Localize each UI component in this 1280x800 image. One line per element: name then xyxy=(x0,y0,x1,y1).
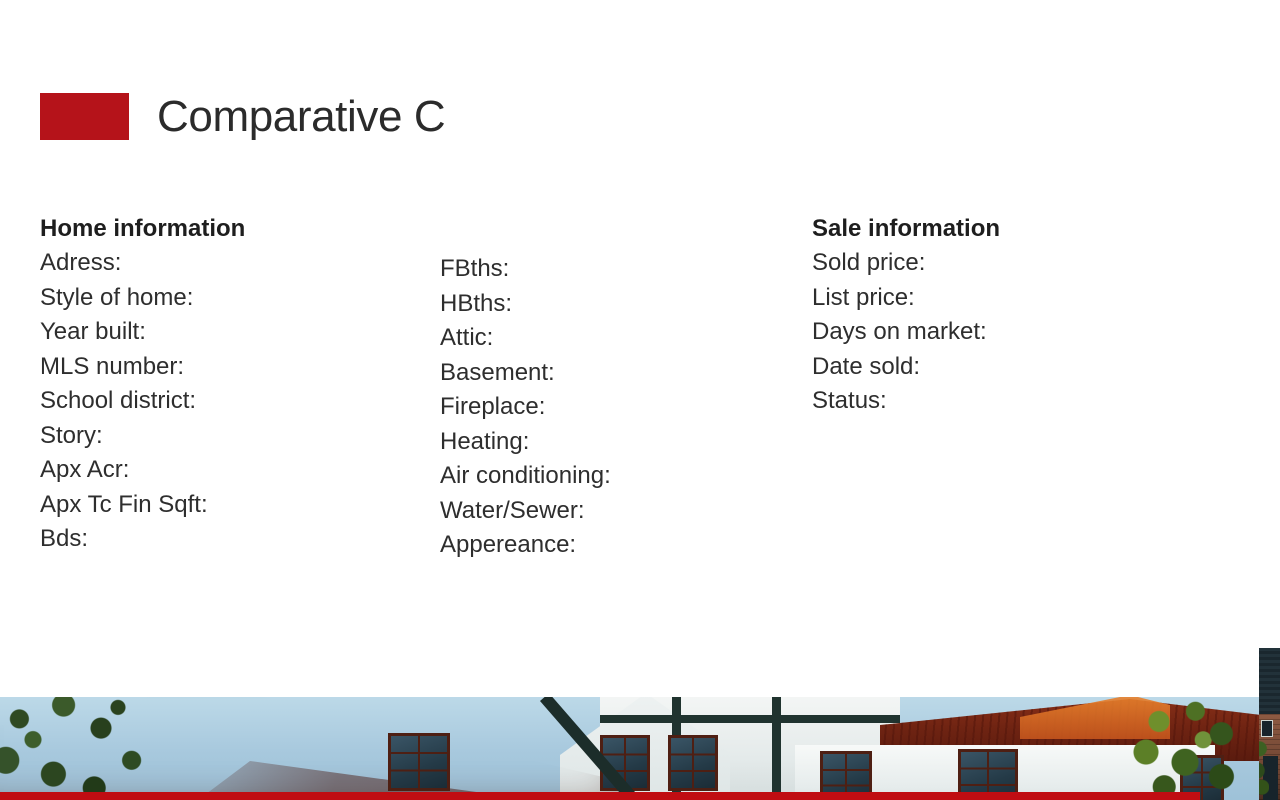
bottom-accent-bar xyxy=(0,792,1200,800)
field-days-on-market: Days on market: xyxy=(812,315,1000,350)
slide-canvas: Comparative C Home information Adress: S… xyxy=(0,0,1280,800)
strip-roof xyxy=(1259,648,1280,714)
column-sale-information: Sale information Sold price: List price:… xyxy=(812,212,1000,419)
field-apx-tc-fin-sqft: Apx Tc Fin Sqft: xyxy=(40,488,245,523)
timber-beam-vertical-2 xyxy=(772,697,781,800)
field-bds: Bds: xyxy=(40,522,245,557)
field-sold-price: Sold price: xyxy=(812,246,1000,281)
field-apx-acr: Apx Acr: xyxy=(40,453,245,488)
field-attic: Attic: xyxy=(440,321,611,356)
field-air-conditioning: Air conditioning: xyxy=(440,459,611,494)
strip-foliage xyxy=(1259,736,1269,800)
field-hbths: HBths: xyxy=(440,287,611,322)
house-exterior-photo-strip xyxy=(1259,648,1280,800)
column-home-features: FBths: HBths: Attic: Basement: Fireplace… xyxy=(440,252,611,563)
field-fbths: FBths: xyxy=(440,252,611,287)
field-school-district: School district: xyxy=(40,384,245,419)
field-style-of-home: Style of home: xyxy=(40,281,245,316)
field-year-built: Year built: xyxy=(40,315,245,350)
field-appereance: Appereance: xyxy=(440,528,611,563)
window-left-1 xyxy=(388,733,450,791)
window-pane xyxy=(671,738,715,788)
tree-left xyxy=(0,697,152,800)
column-home-information: Home information Adress: Style of home: … xyxy=(40,212,245,557)
slide-title-block: Comparative C xyxy=(40,93,445,140)
field-story: Story: xyxy=(40,419,245,454)
home-information-heading: Home information xyxy=(40,212,245,246)
field-date-sold: Date sold: xyxy=(812,350,1000,385)
field-water-sewer: Water/Sewer: xyxy=(440,494,611,529)
sale-information-heading: Sale information xyxy=(812,212,1000,246)
field-basement: Basement: xyxy=(440,356,611,391)
field-status: Status: xyxy=(812,384,1000,419)
strip-window xyxy=(1261,720,1273,737)
window-left-3 xyxy=(668,735,718,791)
window-pane xyxy=(391,736,447,788)
field-list-price: List price: xyxy=(812,281,1000,316)
house-exterior-photo xyxy=(0,697,1259,800)
field-mls-number: MLS number: xyxy=(40,350,245,385)
field-fireplace: Fireplace: xyxy=(440,390,611,425)
field-adress: Adress: xyxy=(40,246,245,281)
field-heating: Heating: xyxy=(440,425,611,460)
title-accent-rectangle xyxy=(40,93,129,140)
timber-beam-horizontal xyxy=(600,715,900,723)
page-title: Comparative C xyxy=(157,95,445,139)
tree-right xyxy=(1120,699,1250,800)
